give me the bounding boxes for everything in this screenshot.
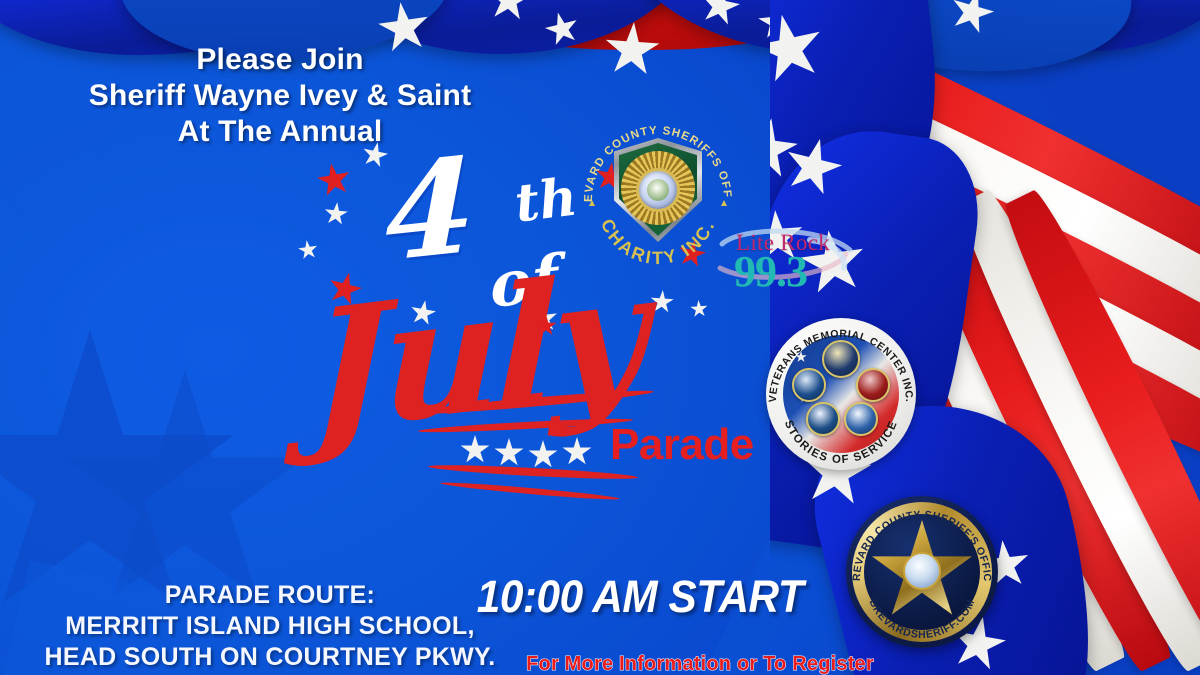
route-label: PARADE ROUTE: — [0, 580, 540, 611]
decor-star-white — [297, 239, 320, 262]
script-swoosh — [428, 463, 638, 482]
title-ordinal-th: th — [512, 166, 581, 234]
vmc-top-arc-text: VETERANS MEMORIAL CENTER INC. — [767, 328, 915, 403]
bcso-sheriff-star-logo[interactable]: BREVARD COUNTY SHERIFF'S OFFICE BREVARDS… — [846, 502, 998, 642]
svg-text:VETERANS MEMORIAL CENTER INC.: VETERANS MEMORIAL CENTER INC. — [767, 328, 915, 403]
parade-label: Parade — [610, 420, 754, 470]
sheriff-seal-icon — [636, 168, 680, 212]
route-line-1: MERRITT ISLAND HIGH SCHOOL, — [0, 611, 540, 642]
svg-text:BREVARDSHERIFF.COM: BREVARDSHERIFF.COM — [866, 597, 977, 641]
veterans-memorial-center-logo[interactable]: VETERANS MEMORIAL CENTER INC. STORIES OF… — [766, 318, 916, 470]
vmc-arc-text: VETERANS MEMORIAL CENTER INC. STORIES OF… — [766, 318, 916, 470]
decor-star-white — [323, 201, 349, 227]
florida-emblem-icon — [647, 179, 669, 201]
bcso-arc-text: BREVARD COUNTY SHERIFF'S OFFICE BREVARDS… — [846, 502, 998, 648]
ribbon-row-star — [494, 438, 524, 468]
ribbon-row-star — [460, 435, 490, 465]
lite-rock-radio-logo[interactable]: Lite Rock 99.3 — [714, 224, 858, 296]
decor-star-red — [314, 160, 353, 199]
headline-line-1: Please Join — [0, 42, 560, 78]
page-title: Please Join Sheriff Wayne Ivey & Saint A… — [0, 42, 560, 150]
ribbon-row-star — [562, 437, 592, 467]
svg-text:BREVARD COUNTY SHERIFF'S OFFIC: BREVARD COUNTY SHERIFF'S OFFICE — [842, 493, 993, 582]
route-line-2: HEAD SOUTH ON COURTNEY PKWY. — [0, 642, 540, 673]
ribbon-star-row — [460, 435, 610, 461]
bcso-top-arc-text: BREVARD COUNTY SHERIFF'S OFFICE — [842, 493, 993, 582]
svg-text:STORIES OF SERVICE: STORIES OF SERVICE — [782, 419, 900, 466]
bcso-bottom-arc-text: BREVARDSHERIFF.COM — [866, 597, 977, 641]
parade-route-block: PARADE ROUTE: MERRITT ISLAND HIGH SCHOOL… — [0, 580, 540, 675]
ribbon-row-star — [528, 440, 558, 470]
decor-star-white — [689, 299, 708, 318]
script-swoosh — [440, 480, 620, 502]
radio-frequency: 99.3 — [734, 246, 807, 297]
parade-flyer: Please Join Sheriff Wayne Ivey & Saint A… — [0, 0, 1200, 675]
vmc-bottom-arc-text: STORIES OF SERVICE — [782, 419, 900, 466]
decor-star-white — [649, 289, 675, 315]
headline-line-2: Sheriff Wayne Ivey & Saint — [0, 78, 560, 114]
